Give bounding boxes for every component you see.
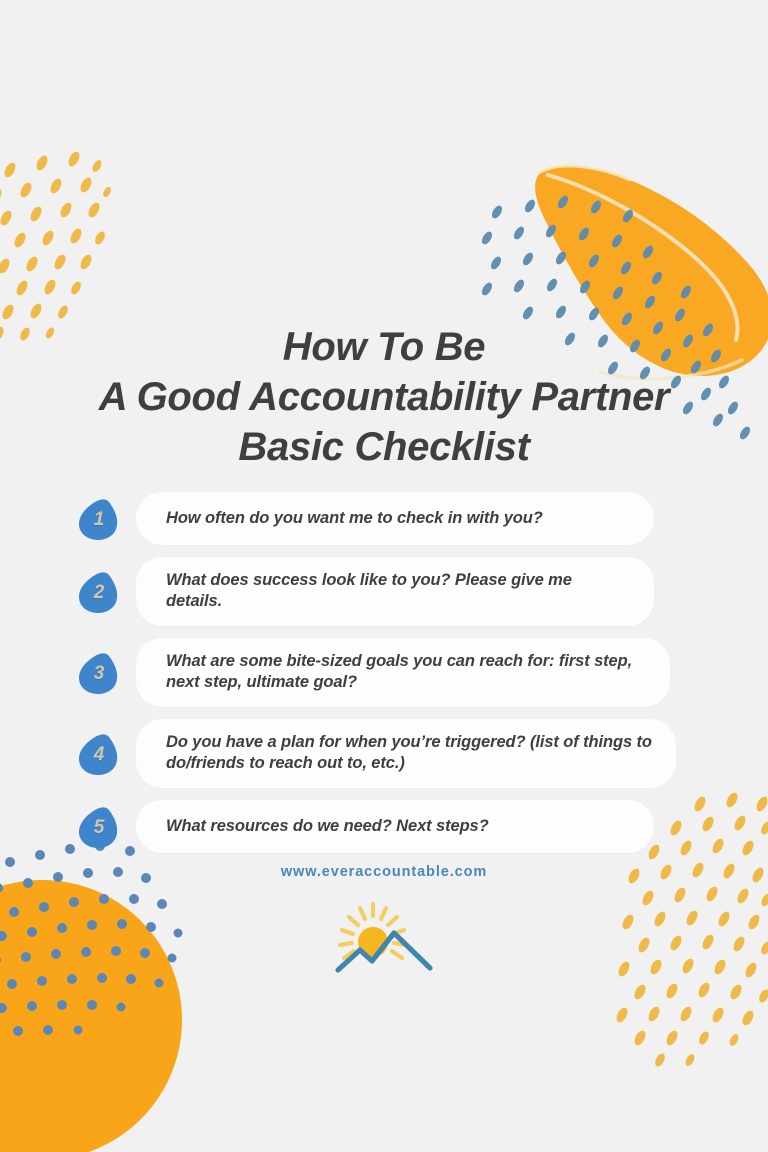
question-card[interactable]: What does success look like to you? Plea…	[136, 557, 654, 626]
badge-number: 2	[94, 582, 105, 604]
question-card[interactable]: How often do you want me to check in wit…	[136, 492, 654, 545]
page-title: How To Be A Good Accountability Partner …	[0, 322, 768, 472]
number-badge: 1	[76, 496, 120, 542]
title-line-1: How To Be	[0, 322, 768, 372]
infographic-poster: How To Be A Good Accountability Partner …	[0, 0, 768, 1152]
badge-number: 3	[94, 663, 105, 685]
number-badge: 3	[76, 650, 120, 696]
title-line-3: Basic Checklist	[0, 422, 768, 472]
list-item[interactable]: 2 What does success look like to you? Pl…	[76, 557, 676, 626]
checklist: 1 How often do you want me to check in w…	[76, 492, 676, 865]
poster-content: How To Be A Good Accountability Partner …	[0, 0, 768, 1152]
question-text: What are some bite-sized goals you can r…	[166, 651, 648, 693]
sun-over-mountain-logo	[332, 900, 436, 976]
question-text: What does success look like to you? Plea…	[166, 570, 632, 612]
logo	[0, 900, 768, 976]
number-badge: 2	[76, 569, 120, 615]
number-badge: 5	[76, 804, 120, 850]
list-item[interactable]: 4 Do you have a plan for when you’re tri…	[76, 719, 676, 788]
question-text: Do you have a plan for when you’re trigg…	[166, 732, 654, 774]
badge-number: 5	[94, 817, 105, 839]
badge-number: 1	[94, 509, 105, 531]
number-badge: 4	[76, 731, 120, 777]
list-item[interactable]: 3 What are some bite-sized goals you can…	[76, 638, 676, 707]
list-item[interactable]: 5 What resources do we need? Next steps?	[76, 800, 676, 853]
question-card[interactable]: What resources do we need? Next steps?	[136, 800, 654, 853]
badge-number: 4	[94, 744, 105, 766]
title-line-2: A Good Accountability Partner	[0, 372, 768, 422]
list-item[interactable]: 1 How often do you want me to check in w…	[76, 492, 676, 545]
question-text: What resources do we need? Next steps?	[166, 816, 489, 837]
question-card[interactable]: What are some bite-sized goals you can r…	[136, 638, 670, 707]
website-url[interactable]: www.everaccountable.com	[0, 864, 768, 880]
question-text: How often do you want me to check in wit…	[166, 508, 543, 529]
question-card[interactable]: Do you have a plan for when you’re trigg…	[136, 719, 676, 788]
